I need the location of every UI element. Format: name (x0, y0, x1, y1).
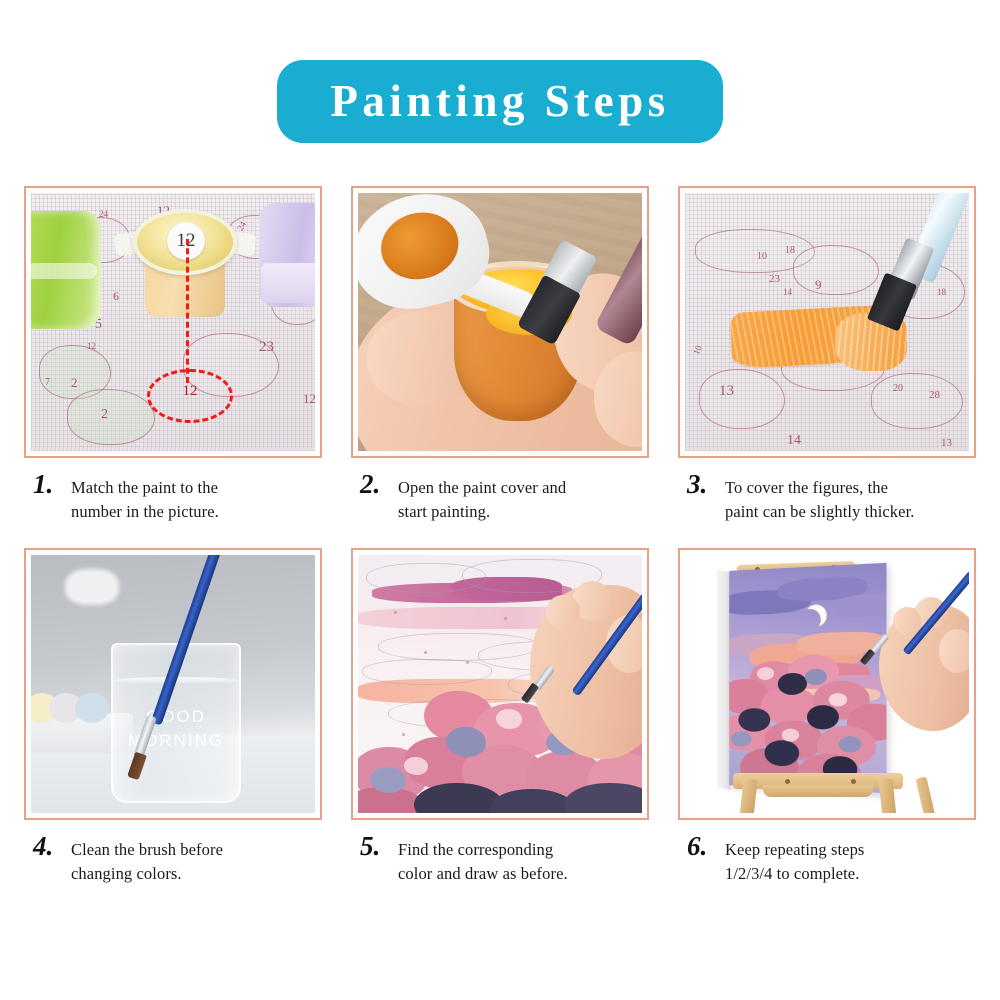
canvas-number: 18 (785, 245, 795, 256)
easel-shelf-support (763, 785, 873, 797)
step-5-line-2: color and draw as before. (398, 862, 568, 886)
dark-foliage (738, 708, 770, 732)
step-6-line-2: 1/2/3/4 to complete. (725, 862, 864, 886)
step-2-number: 2. (360, 470, 398, 524)
canvas-number: 20 (893, 383, 903, 394)
canvas-number: 6 (113, 289, 119, 304)
step-card-3: 10 18 23 14 9 20 13 10 20 14 28 13 18 20 (678, 186, 976, 524)
open-paint-pot-with-brush-photo (358, 193, 642, 451)
canvas-number: 2 (101, 407, 108, 423)
step-6-line-1: Keep repeating steps (725, 840, 864, 859)
canvas-dot (466, 661, 469, 664)
canvas-dot (394, 611, 397, 614)
step-5-photo-frame (351, 548, 649, 820)
finger-knuckle (893, 607, 921, 635)
canvas-number: 28 (929, 389, 940, 401)
title-banner: Painting Steps (277, 60, 723, 143)
step-5-number: 5. (360, 832, 398, 886)
blue-foliage (370, 767, 406, 793)
step-card-6: 6. Keep repeating steps 1/2/3/4 to compl… (678, 548, 976, 886)
canvas-shape (871, 373, 963, 429)
canvas-number: 14 (783, 287, 792, 297)
canvas-number: 9 (815, 277, 822, 293)
step-4-number: 4. (33, 832, 71, 886)
paint-pot-number-match-photo: 12 24 2 24 7 6 5 12 2 7 2 23 12 24 23 (31, 193, 315, 451)
step-6-text: Keep repeating steps 1/2/3/4 to complete… (725, 832, 864, 886)
light-blossom (757, 667, 774, 680)
step-4-line-2: changing colors. (71, 862, 223, 886)
canvas-number: 23 (769, 273, 780, 285)
step-6-photo-frame (678, 548, 976, 820)
light-blossom (782, 728, 799, 741)
canvas-shape (67, 389, 155, 445)
canvas-outline (362, 659, 492, 685)
step-2-text: Open the paint cover and start painting. (398, 470, 566, 524)
step-1-text: Match the paint to the number in the pic… (71, 470, 219, 524)
finger-knuckle (546, 595, 580, 629)
step-2-caption: 2. Open the paint cover and start painti… (351, 470, 649, 524)
light-blossom (404, 757, 428, 775)
step-6-number: 6. (687, 832, 725, 886)
canvas-number: 7 (45, 377, 50, 388)
step-4-caption: 4. Clean the brush before changing color… (24, 832, 322, 886)
step-2-line-1: Open the paint cover and (398, 478, 566, 497)
completed-painting (729, 563, 886, 793)
red-dashed-line (186, 239, 189, 383)
canvas-number: 18 (937, 287, 946, 297)
canvas-number: 12 (303, 391, 315, 407)
step-1-line-2: number in the picture. (71, 500, 219, 524)
canvas-shape (793, 245, 879, 295)
brush-rinsing-in-water-glass-photo: GOOD MORNING (31, 555, 315, 813)
purple-paint-pot (259, 203, 315, 307)
canvas-number: 10 (757, 251, 767, 262)
yellow-paint-pot: 12 (133, 209, 237, 317)
step-1-number: 1. (33, 470, 71, 524)
step-4-line-1: Clean the brush before (71, 840, 223, 859)
green-paint-pot (31, 211, 101, 329)
easel-screw (851, 779, 856, 784)
step-card-4: GOOD MORNING 4. Clean the brush before c… (24, 548, 322, 886)
blue-foliage (839, 736, 862, 753)
canvas-dot (504, 617, 507, 620)
canvas-dot (450, 589, 453, 592)
step-1-line-1: Match the paint to the (71, 478, 218, 497)
step-card-2: 2. Open the paint cover and start painti… (351, 186, 649, 524)
canvas-number: 24 (99, 209, 108, 219)
step-3-line-1: To cover the figures, the (725, 478, 888, 497)
step-2-photo-frame (351, 186, 649, 458)
brush-painting-orange-on-canvas-photo: 10 18 23 14 9 20 13 10 20 14 28 13 18 20 (685, 193, 969, 451)
step-6-caption: 6. Keep repeating steps 1/2/3/4 to compl… (678, 832, 976, 886)
painting-steps-grid: 12 24 2 24 7 6 5 12 2 7 2 23 12 24 23 (24, 186, 976, 886)
canvas-shape (699, 369, 785, 429)
finished-painting-on-easel-photo (685, 555, 969, 813)
thumb (939, 629, 969, 673)
blue-foliage (446, 727, 486, 757)
step-5-caption: 5. Find the corresponding color and draw… (351, 832, 649, 886)
blue-foliage (805, 669, 827, 685)
light-blossom (496, 709, 522, 729)
step-5-text: Find the corresponding color and draw as… (398, 832, 568, 886)
page-title: Painting Steps (330, 79, 669, 124)
highlighted-canvas-number: 12 (147, 383, 233, 400)
dark-foliage (778, 673, 807, 695)
canvas-number: 13 (941, 437, 952, 449)
canvas-number: 12 (87, 341, 96, 351)
step-3-caption: 3. To cover the figures, the paint can b… (678, 470, 976, 524)
glass-printed-text: GOOD MORNING (111, 705, 241, 754)
step-1-photo-frame: 12 24 2 24 7 6 5 12 2 7 2 23 12 24 23 (24, 186, 322, 458)
step-2-line-2: start painting. (398, 500, 566, 524)
canvas-number: 14 (787, 433, 801, 449)
canvas-number: 23 (259, 339, 274, 356)
blue-foliage (731, 731, 751, 747)
step-4-text: Clean the brush before changing colors. (71, 832, 223, 886)
step-5-line-1: Find the corresponding (398, 840, 553, 859)
step-card-5: 5. Find the corresponding color and draw… (351, 548, 649, 886)
blurred-object (65, 569, 119, 605)
step-3-photo-frame: 10 18 23 14 9 20 13 10 20 14 28 13 18 20 (678, 186, 976, 458)
page-header: Painting Steps (0, 60, 1000, 143)
canvas-dot (424, 651, 427, 654)
step-4-photo-frame: GOOD MORNING (24, 548, 322, 820)
step-card-1: 12 24 2 24 7 6 5 12 2 7 2 23 12 24 23 (24, 186, 322, 524)
step-3-line-2: paint can be slightly thicker. (725, 500, 915, 524)
canvas-number: 2 (71, 375, 78, 391)
canvas-number: 13 (719, 383, 734, 400)
step-1-caption: 1. Match the paint to the number in the … (24, 470, 322, 524)
easel-screw (785, 779, 790, 784)
light-blossom (829, 693, 847, 706)
decor-object (75, 693, 109, 723)
painting-blossoms-in-progress-photo (358, 555, 642, 813)
step-3-number: 3. (687, 470, 725, 524)
dark-foliage (807, 705, 839, 730)
decor-objects (31, 693, 111, 727)
step-3-text: To cover the figures, the paint can be s… (725, 470, 915, 524)
